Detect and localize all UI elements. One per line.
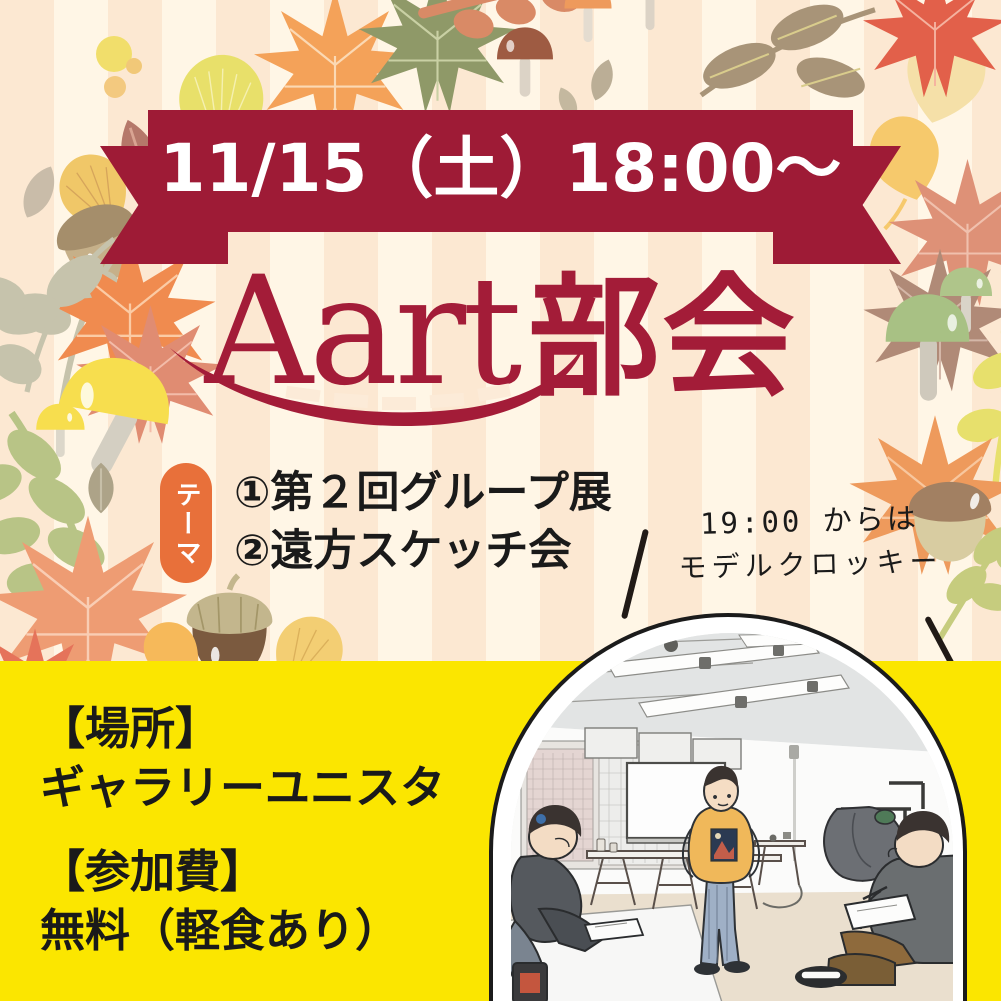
ribbon-bar: 11/15（土）18:00〜 — [148, 110, 853, 232]
place-heading: 【場所】 — [40, 700, 510, 759]
croquis-note-line-2: モデルクロッキー — [660, 540, 961, 590]
poster-root: 11/15（土）18:00〜 Aart 部会 テーマ ①第２回グループ展 ②遠方… — [0, 0, 1001, 1001]
venue-photo — [511, 633, 953, 1001]
theme-badge: テーマ — [160, 463, 212, 583]
theme-item-list: ①第２回グループ展 ②遠方スケッチ会 — [234, 463, 612, 578]
info-text-block: 【場所】 ギャラリーユニスタ 【参加費】 無料（軽食あり） — [40, 700, 510, 960]
theme-item-2: ②遠方スケッチ会 — [234, 525, 612, 577]
title-swoosh-icon — [168, 336, 588, 426]
venue-photo-frame — [489, 613, 967, 1001]
theme-section: テーマ ①第２回グループ展 ②遠方スケッチ会 — [160, 463, 612, 583]
venue-photo-illustration — [511, 633, 953, 1001]
croquis-note-line-1: 19:00 からは — [659, 496, 960, 547]
croquis-note: 19:00 からは モデルクロッキー — [659, 496, 961, 589]
fee-heading: 【参加費】 — [40, 843, 510, 902]
theme-badge-label: テーマ — [173, 481, 199, 568]
theme-item-1: ①第２回グループ展 — [234, 467, 612, 519]
place-value: ギャラリーユニスタ — [40, 759, 510, 818]
fee-value: 無料（軽食あり） — [40, 902, 510, 961]
event-date-time: 11/15（土）18:00〜 — [160, 136, 842, 202]
